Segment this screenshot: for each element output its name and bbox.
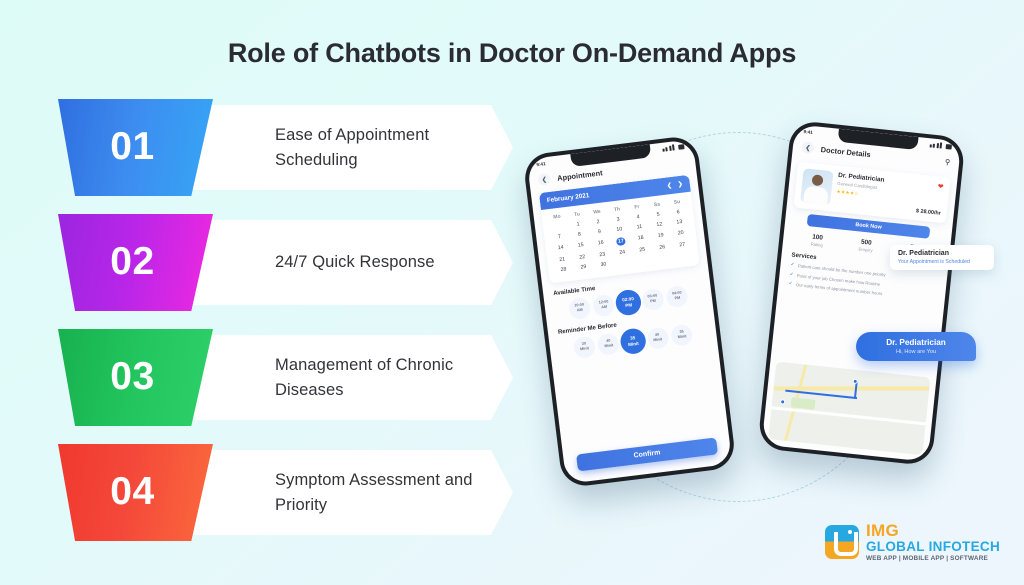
logo-company-name: GLOBAL INFOTECH: [866, 540, 1000, 555]
step-body: Management of Chronic Diseases: [178, 335, 513, 420]
phone-screen: 9:41 ❮ Appointment February 2021 ❮ ❯: [527, 139, 733, 484]
step-badge: 04: [58, 444, 213, 541]
search-icon[interactable]: ⚲: [945, 158, 951, 166]
stat-item: 500 Enquiry: [858, 239, 873, 253]
reminder-chip[interactable]: 40Minit: [646, 326, 669, 349]
notification-title: Dr. Pediatrician: [898, 250, 986, 257]
step-number: 03: [110, 355, 154, 399]
phone-mockup-scene: 9:41 ❮ Appointment February 2021 ❮ ❯: [520, 110, 1000, 530]
time-chip[interactable]: 04:00PM: [665, 284, 688, 307]
notification-subtitle: Your Appointment is Scheduled: [898, 259, 986, 265]
logo-tagline: WEB APP | MOBILE APP | SOFTWARE: [866, 556, 1000, 563]
reminder-chip[interactable]: 40Minit: [597, 332, 620, 355]
reminder-chip[interactable]: 35Minit: [670, 323, 693, 346]
steps-list: Ease of Appointment Scheduling 01 24/7 Q…: [58, 105, 513, 565]
calendar-day[interactable]: 30: [593, 259, 614, 272]
time-chip-selected[interactable]: 02:00PM: [614, 288, 642, 316]
map-road: [771, 406, 925, 425]
bullet-icon: ✓: [788, 281, 792, 286]
confirm-button[interactable]: Confirm: [576, 437, 718, 471]
chevron-right-icon[interactable]: ❯: [677, 181, 683, 189]
stat-value: 100: [811, 233, 824, 241]
app-bar-title: Appointment: [557, 168, 603, 182]
chevron-left-icon[interactable]: ❮: [666, 182, 672, 190]
step-item[interactable]: Ease of Appointment Scheduling 01: [58, 105, 513, 192]
step-item[interactable]: Management of Chronic Diseases 03: [58, 335, 513, 422]
calendar-month: February 2021: [546, 192, 589, 204]
notification-bubble[interactable]: Dr. Pediatrician Your Appointment is Sch…: [890, 245, 994, 270]
time-chip[interactable]: 12:00AM: [592, 293, 615, 316]
step-number: 01: [110, 125, 154, 169]
step-label: Ease of Appointment Scheduling: [178, 123, 513, 173]
step-number: 04: [110, 470, 154, 514]
heart-icon[interactable]: ❤: [937, 182, 944, 191]
reminder-chip-selected[interactable]: 35Minit: [619, 327, 647, 355]
bullet-icon: ✓: [790, 262, 794, 267]
chat-title: Dr. Pediatrician: [865, 338, 967, 347]
step-number: 02: [110, 240, 154, 284]
app-bar-title: Doctor Details: [820, 144, 871, 158]
status-time: 9:41: [803, 129, 813, 135]
time-chip[interactable]: 03:00PM: [641, 287, 664, 310]
step-label: Symptom Assessment and Priority: [178, 468, 513, 518]
stat-item: 100 Rating: [811, 233, 824, 247]
time-chip[interactable]: 10:00AM: [568, 296, 591, 319]
phone-screen: 9:41 ❮ Doctor Details ⚲ Dr. Pediatrician…: [762, 124, 962, 462]
step-badge: 01: [58, 99, 213, 196]
step-item[interactable]: 24/7 Quick Response 02: [58, 220, 513, 307]
logo-text: IMG GLOBAL INFOTECH WEB APP | MOBILE APP…: [866, 522, 1000, 563]
stat-label: Rating: [811, 241, 824, 247]
calendar-widget[interactable]: February 2021 ❮ ❯ Mo Tu We Th Fr Sa Su: [539, 175, 700, 283]
doctor-price: $ 28.00/hr: [916, 208, 941, 217]
doctor-avatar: [800, 168, 833, 205]
calendar-day[interactable]: 28: [553, 264, 574, 277]
step-item[interactable]: Symptom Assessment and Priority 04: [58, 450, 513, 537]
step-body: 24/7 Quick Response: [178, 220, 513, 305]
reminder-chip[interactable]: 30Minit: [573, 335, 596, 358]
stat-label: Enquiry: [858, 246, 873, 252]
step-body: Symptom Assessment and Priority: [178, 450, 513, 535]
step-label: Management of Chronic Diseases: [178, 353, 513, 403]
calendar-day[interactable]: 29: [573, 261, 594, 274]
chevron-left-icon[interactable]: ❮: [538, 173, 551, 186]
map-pin-icon: [780, 399, 785, 404]
phone-doctor-details: 9:41 ❮ Doctor Details ⚲ Dr. Pediatrician…: [757, 120, 966, 466]
map-pin-icon: [852, 378, 857, 383]
chat-bubble[interactable]: Dr. Pediatrician Hi, How are You: [856, 332, 976, 361]
stat-value: 500: [859, 239, 874, 247]
map-view[interactable]: [768, 361, 930, 455]
company-logo[interactable]: IMG GLOBAL INFOTECH WEB APP | MOBILE APP…: [825, 522, 1000, 563]
calendar-nav: ❮ ❯: [666, 181, 683, 190]
logo-mark-icon: [825, 525, 859, 559]
step-badge: 02: [58, 214, 213, 311]
logo-img-text: IMG: [866, 522, 1000, 540]
chevron-left-icon[interactable]: ❮: [801, 141, 814, 154]
step-badge: 03: [58, 329, 213, 426]
step-label: 24/7 Quick Response: [178, 250, 463, 275]
chat-subtitle: Hi, How are You: [865, 349, 967, 355]
bullet-icon: ✓: [789, 272, 793, 277]
page-title: Role of Chatbots in Doctor On-Demand App…: [0, 38, 1024, 69]
step-body: Ease of Appointment Scheduling: [178, 105, 513, 190]
